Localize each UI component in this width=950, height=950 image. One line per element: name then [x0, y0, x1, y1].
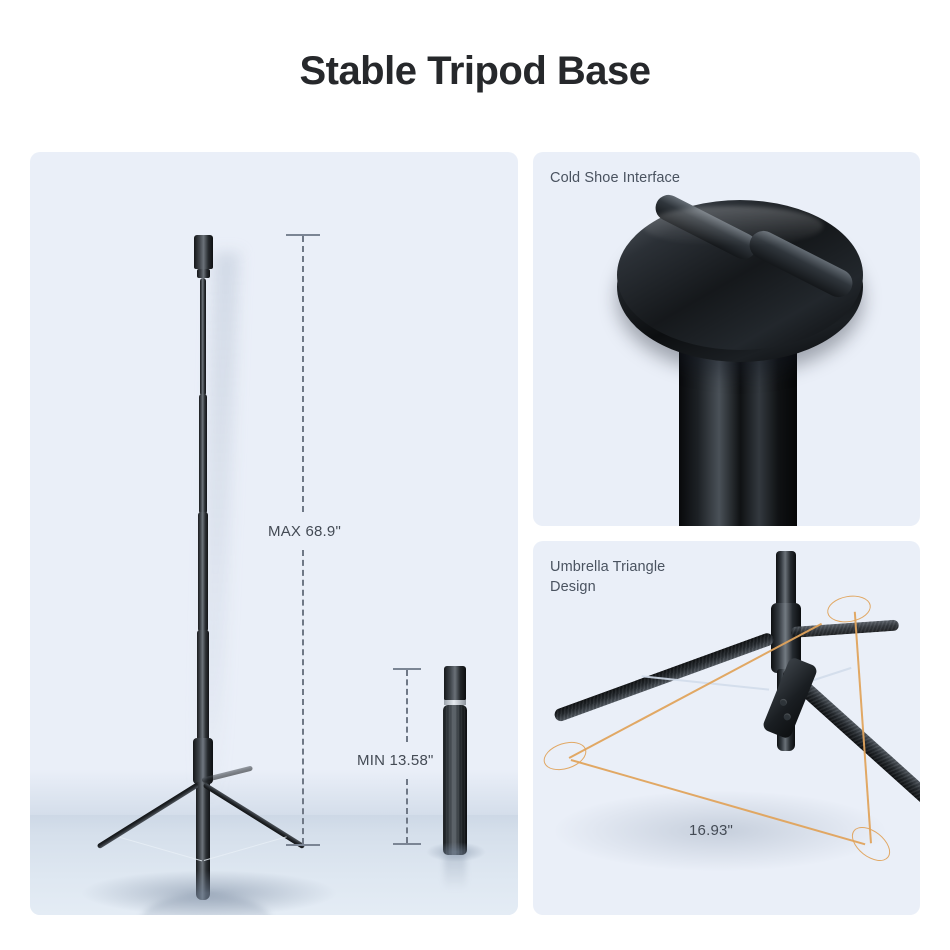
umbrella-panel-label: Umbrella Triangle Design [550, 557, 665, 597]
cold-shoe-panel-label: Cold Shoe Interface [550, 168, 680, 188]
collapsed-top-cap [444, 666, 466, 700]
pole-segment-4 [197, 630, 209, 742]
tripod-brace-left [119, 836, 202, 861]
umbrella-dimension-label: 16.93" [689, 822, 733, 839]
umbrella-tripod-render: 16.93" [533, 541, 920, 915]
pole-segment-1 [200, 278, 206, 396]
cold-shoe-highlight [643, 206, 823, 246]
max-dimension-line-lower [302, 550, 304, 844]
collapsed-floor-reflection [444, 854, 466, 890]
pole-segment-3 [198, 512, 208, 632]
leg-tip-highlight-rear [825, 592, 873, 625]
min-dimension-cap-bottom [393, 843, 421, 845]
remote-button-2[interactable] [783, 712, 792, 721]
tripod-brace-right [204, 836, 287, 861]
tripod-collapsed [432, 666, 478, 858]
min-dimension-line-upper [406, 670, 408, 742]
leg-tip-highlight-left [540, 737, 590, 775]
max-dimension-label: MAX 68.9" [268, 523, 341, 540]
panel-full-extension: MAX 68.9" MIN 13.58" [30, 152, 518, 915]
min-dimension-label: MIN 13.58" [357, 752, 434, 769]
remote-button-1[interactable] [779, 698, 788, 707]
tripod-leg-right [203, 782, 306, 849]
collapsed-body [443, 705, 467, 855]
max-dimension-cap-bottom [286, 844, 320, 846]
tripod-leg-left [97, 782, 200, 849]
page-title: Stable Tripod Base [0, 49, 950, 94]
panel-umbrella-triangle: Umbrella Triangle Design 16.93" [533, 541, 920, 915]
min-dimension-line-lower [406, 779, 408, 843]
tripod-extended [86, 222, 336, 862]
cold-shoe-head-icon [194, 235, 213, 269]
max-dimension-line-upper [302, 236, 304, 512]
cold-shoe-render [533, 152, 920, 526]
pole-segment-2 [199, 394, 207, 514]
cold-shoe-collar [197, 269, 210, 278]
panel-cold-shoe: Cold Shoe Interface [533, 152, 920, 526]
